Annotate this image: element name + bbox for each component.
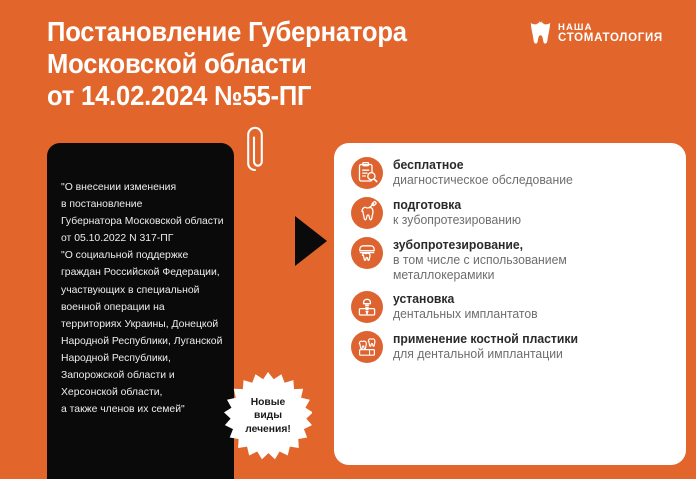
tooth-icon (530, 20, 551, 45)
brand-logo-line-1: НАША (558, 22, 663, 33)
benefits-card: бесплатное диагностическое обследование (334, 143, 686, 465)
list-item-title: подготовка (393, 198, 521, 213)
document-line: "О социальной поддержке (61, 247, 234, 264)
list-item-text: бесплатное диагностическое обследование (393, 157, 578, 188)
list-item-title: применение костной пластики (393, 332, 578, 347)
list-item-subtitle: для дентальной имплантации (393, 347, 578, 362)
list-item: подготовка к зубопротезированию (351, 197, 681, 229)
document-line: участвующих в специальной (61, 282, 234, 299)
bone-graft-icon (351, 331, 383, 363)
document-line: а также членов их семей" (61, 401, 234, 418)
document-line: Запорожской области и (61, 367, 234, 384)
dental-crown-icon (351, 237, 383, 269)
document-line: военной операции на (61, 299, 234, 316)
status-badge-line-3: лечения! (245, 423, 291, 437)
list-item-text: подготовка к зубопротезированию (393, 197, 525, 228)
list-item: применение костной пластики для дентальн… (351, 331, 681, 363)
list-item-subtitle: к зубопротезированию (393, 213, 521, 228)
document-line: от 05.10.2022 N 317-ПГ (61, 230, 234, 247)
list-item-subtitle: диагностическое обследование (393, 173, 573, 188)
list-item-subtitle: металлокерамики (393, 268, 567, 283)
list-item-subtitle: дентальных имплантатов (393, 307, 538, 322)
document-card-text: "О внесении изменения в постановление Гу… (61, 179, 234, 418)
status-badge-line-2: виды (254, 409, 282, 423)
play-arrow-right-icon (295, 216, 327, 266)
list-item-text: применение костной пластики для дентальн… (393, 331, 584, 362)
list-item-title: зубопротезирование, (393, 238, 567, 253)
document-line: Народной Республики, (61, 350, 234, 367)
dental-implant-icon (351, 291, 383, 323)
brand-logo-line-2: СТОМАТОЛОГИЯ (558, 33, 663, 44)
document-line: Губернатора Московской области (61, 213, 234, 230)
paperclip-icon (241, 126, 269, 172)
document-line: в постановление (61, 196, 234, 213)
page-title-line-2: Московской области (47, 48, 484, 80)
status-badge-line-1: Новые (251, 396, 286, 410)
list-item: установка дентальных имплантатов (351, 291, 681, 323)
document-line: Народной Республики, Луганской (61, 333, 234, 350)
list-item: бесплатное диагностическое обследование (351, 157, 681, 189)
document-card: "О внесении изменения в постановление Гу… (47, 143, 234, 479)
page-title-line-1: Постановление Губернатора (47, 16, 484, 48)
benefits-list: бесплатное диагностическое обследование (351, 157, 681, 363)
brand-logo: НАША СТОМАТОЛОГИЯ (530, 20, 663, 45)
page-title-line-3: от 14.02.2024 №55-ПГ (47, 80, 484, 112)
tooth-drill-icon (351, 197, 383, 229)
list-item: зубопротезирование, в том числе с исполь… (351, 237, 681, 283)
document-line: "О внесении изменения (61, 179, 234, 196)
poster-root: Постановление Губернатора Московской обл… (0, 0, 696, 479)
document-line: Херсонской области, (61, 384, 234, 401)
list-item-text: установка дентальных имплантатов (393, 291, 542, 322)
document-line: граждан Российской Федерации, (61, 264, 234, 281)
list-item-subtitle: в том числе с использованием (393, 253, 567, 268)
list-item-title: установка (393, 292, 538, 307)
list-item-text: зубопротезирование, в том числе с исполь… (393, 237, 572, 283)
page-title: Постановление Губернатора Московской обл… (47, 16, 484, 112)
list-item-title: бесплатное (393, 158, 573, 173)
status-badge: Новые виды лечения! (224, 372, 312, 460)
clipboard-search-icon (351, 157, 383, 189)
document-line: территориях Украины, Донецкой (61, 316, 234, 333)
status-badge-text: Новые виды лечения! (224, 372, 312, 460)
poster-header: Постановление Губернатора Московской обл… (0, 0, 696, 130)
brand-logo-text: НАША СТОМАТОЛОГИЯ (558, 22, 663, 44)
